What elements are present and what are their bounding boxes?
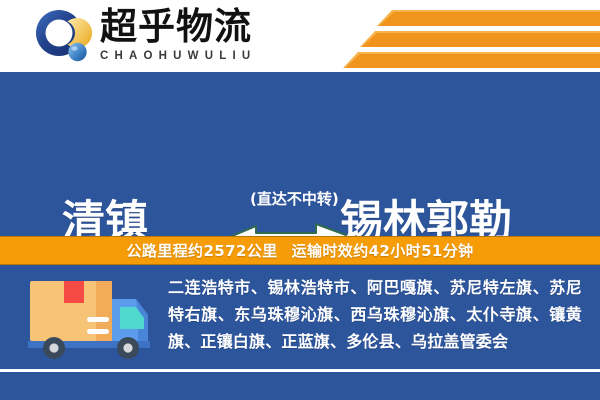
brand-name-cn: 超乎物流 bbox=[100, 6, 320, 48]
route-info-bar: 公路里程约2572公里 运输时效约42小时51分钟 bbox=[0, 236, 600, 265]
delivery-truck-icon bbox=[24, 277, 156, 361]
circle-crescent-logo-icon bbox=[34, 8, 92, 66]
decorative-stripes bbox=[320, 0, 600, 72]
destination-list: 二连浩特市、锡林浩特市、阿巴嘎旗、苏尼特左旗、苏尼特右旗、东乌珠穆沁旗、西乌珠穆… bbox=[168, 274, 582, 355]
brand-name-block: 超乎物流 CHAOHUWULIU bbox=[100, 6, 320, 63]
logistics-route-poster: 超乎物流 CHAOHUWULIU 清镇 (直达不中转) 锡林郭勒 【往返运输】 bbox=[0, 0, 600, 400]
header-bar: 超乎物流 CHAOHUWULIU bbox=[0, 0, 600, 72]
distance-text: 公路里程约2572公里 bbox=[126, 240, 277, 261]
duration-text: 运输时效约42小时51分钟 bbox=[292, 240, 474, 261]
footer-bar bbox=[0, 372, 600, 400]
destination-section: 二连浩特市、锡林浩特市、阿巴嘎旗、苏尼特左旗、苏尼特右旗、东乌珠穆沁旗、西乌珠穆… bbox=[0, 265, 600, 369]
brand-name-en: CHAOHUWULIU bbox=[100, 49, 320, 63]
route-banner: 清镇 (直达不中转) 锡林郭勒 【往返运输】 bbox=[0, 72, 600, 236]
direct-transit-note: (直达不中转) bbox=[250, 188, 339, 209]
